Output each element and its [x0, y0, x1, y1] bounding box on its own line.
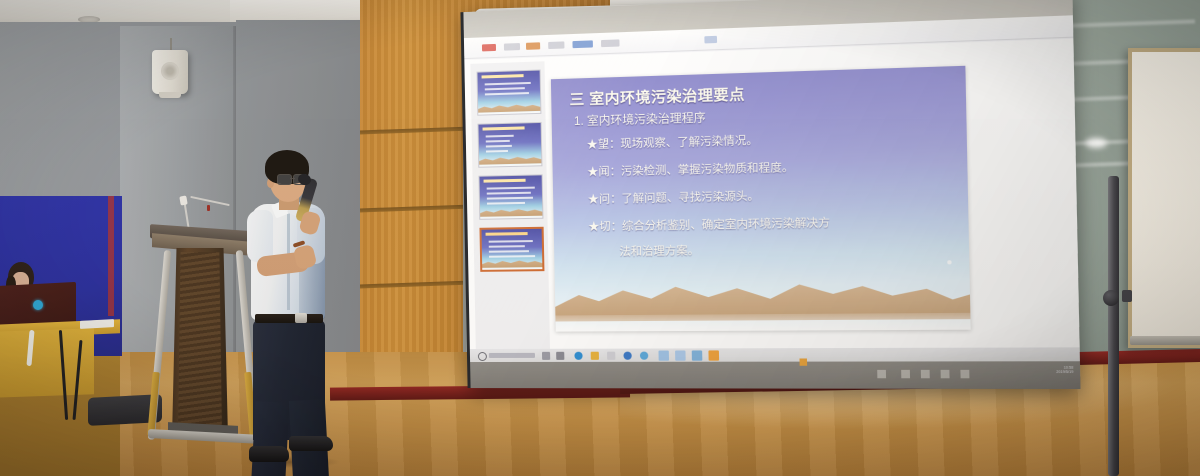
- slide-bullet: ★问：了解问题、寻找污染源头。: [588, 187, 760, 207]
- presenter-left-leg: [251, 401, 290, 476]
- tray-network-icon[interactable]: [921, 370, 930, 378]
- presenter-right-shoe: [289, 436, 333, 451]
- search-input[interactable]: [489, 353, 535, 358]
- presenter-left-shoe: [249, 446, 289, 462]
- laptop-logo-icon: [33, 300, 43, 310]
- eyeglasses-bridge: [290, 178, 295, 179]
- whiteboard-marker-tray: [1130, 336, 1200, 345]
- speaker-cone-icon: [161, 62, 179, 80]
- thumb-text-line: [489, 255, 535, 258]
- clock-date: 2019/5/19: [1056, 370, 1073, 374]
- thumb-text-line: [486, 150, 508, 153]
- eyeglasses-icon: [277, 174, 292, 185]
- ribbon-tab-transitions[interactable]: [572, 40, 593, 48]
- thumb-title-bar: [486, 232, 528, 236]
- windows-taskbar[interactable]: [470, 347, 1080, 362]
- whiteboard-stand-post: [1108, 176, 1119, 476]
- presenter-belt: [255, 314, 323, 323]
- powerpoint-window-icon[interactable]: [675, 350, 686, 360]
- system-tray[interactable]: [1008, 351, 1073, 359]
- thumb-text-line: [489, 240, 533, 243]
- wall-speaker-icon: [152, 50, 188, 94]
- speaker-base: [159, 92, 181, 98]
- thumb-text-line: [485, 92, 529, 95]
- projected-desktop: 三 室内环境污染治理要点 1. 室内环境污染治理程序 ★望：现场观察、了解污染情…: [464, 15, 1081, 389]
- mail-icon[interactable]: [623, 352, 631, 360]
- active-slide[interactable]: 三 室内环境污染治理要点 1. 室内环境污染治理程序 ★望：现场观察、了解污染情…: [551, 66, 971, 332]
- desktop-wallpaper-area: 10:58 2019/5/19: [470, 361, 1080, 389]
- glass-light-glare: [1085, 138, 1107, 148]
- tray-chevron-up-icon[interactable]: [901, 370, 910, 378]
- tray-pen-icon[interactable]: [877, 370, 886, 378]
- cortana-icon[interactable]: [556, 352, 564, 360]
- presenter: [243, 150, 373, 476]
- thumb-text-line: [487, 187, 535, 190]
- thumb-mountain-graphic: [479, 154, 541, 165]
- taskview-icon[interactable]: [542, 352, 550, 360]
- thumb-text-line: [486, 145, 512, 148]
- slide-thumbnail-selected[interactable]: [479, 227, 544, 272]
- ribbon-tab-animations[interactable]: [601, 39, 620, 47]
- slide-title: 三 室内环境污染治理要点: [569, 83, 745, 110]
- desktop-icon[interactable]: [799, 358, 807, 365]
- slide-thumbnail-pane[interactable]: [470, 61, 550, 354]
- lecture-room-photo: 三 室内环境污染治理要点 1. 室内环境污染治理程序 ★望：现场观察、了解污染情…: [0, 0, 1200, 476]
- slide-bullet: 法和治理方案。: [619, 242, 699, 259]
- slide-bullet: ★切：综合分析鉴别、确定室内环境污染解决方: [588, 214, 830, 234]
- thumb-text-line: [486, 140, 510, 143]
- slide-bottom-haze: [555, 313, 970, 332]
- ribbon-tab-insert[interactable]: [526, 42, 540, 50]
- ribbon-tab-file[interactable]: [482, 44, 496, 52]
- screen-surface: 三 室内环境污染治理要点 1. 室内环境污染治理程序 ★望：现场观察、了解污染情…: [463, 0, 1080, 389]
- weather-icon[interactable]: [640, 352, 648, 360]
- slide-accent-dot: [947, 260, 951, 264]
- wechat-window-icon[interactable]: [692, 350, 703, 360]
- edge-icon[interactable]: [574, 352, 582, 360]
- slide-bullet: ★闻：污染检测、掌握污染物质和程度。: [587, 158, 794, 179]
- thumb-title-bar: [483, 126, 525, 130]
- explorer-window-icon[interactable]: [658, 351, 669, 361]
- thumb-mountain-graphic: [480, 207, 542, 217]
- ribbon-tab-home[interactable]: [504, 43, 520, 51]
- qq-window-icon[interactable]: [708, 350, 719, 360]
- store-icon[interactable]: [607, 352, 615, 360]
- podium-front-panel: [178, 252, 222, 434]
- thumb-title-bar: [482, 74, 524, 78]
- presenter-left-arm: [247, 210, 273, 262]
- thumb-text-line: [489, 245, 525, 248]
- folder-icon[interactable]: [591, 352, 599, 360]
- thumb-text-line: [487, 197, 533, 200]
- tray-ime-icon[interactable]: [960, 370, 969, 378]
- red-wall-strip: [108, 196, 114, 316]
- presenter-belt-buckle: [295, 313, 307, 323]
- thumb-text-line: [487, 202, 525, 205]
- whiteboard-clamp: [1122, 290, 1132, 302]
- taskbar-clock[interactable]: 10:58 2019/5/19: [1056, 366, 1073, 375]
- tray-volume-icon[interactable]: [941, 370, 950, 378]
- slide-subtitle: 1. 室内环境污染治理程序: [574, 109, 706, 129]
- thumb-text-line: [486, 135, 514, 138]
- podium-microphone-icon: [179, 195, 187, 205]
- thumb-mountain-graphic: [482, 258, 542, 268]
- podium-mic-indicator: [207, 205, 210, 211]
- slide-thumbnail[interactable]: [477, 122, 542, 168]
- slide-thumbnail[interactable]: [478, 174, 543, 219]
- projection-screen: 三 室内环境污染治理要点 1. 室内环境污染治理程序 ★望：现场观察、了解污染情…: [455, 0, 1055, 400]
- thumb-text-line: [489, 250, 529, 253]
- thumb-mountain-graphic: [478, 102, 540, 113]
- ribbon-quick-access[interactable]: [704, 36, 717, 44]
- thumb-text-line: [485, 87, 525, 90]
- thumb-title-bar: [484, 179, 526, 183]
- slide-thumbnail[interactable]: [476, 70, 541, 116]
- thumb-text-line: [487, 192, 531, 195]
- start-button-icon[interactable]: [478, 352, 487, 361]
- whiteboard: [1128, 48, 1200, 348]
- ribbon-tab-design[interactable]: [548, 41, 564, 49]
- slide-bullet: ★望：现场观察、了解污染情况。: [586, 131, 758, 152]
- thumb-text-line: [485, 82, 531, 85]
- whiteboard-adjust-knob[interactable]: [1103, 290, 1119, 306]
